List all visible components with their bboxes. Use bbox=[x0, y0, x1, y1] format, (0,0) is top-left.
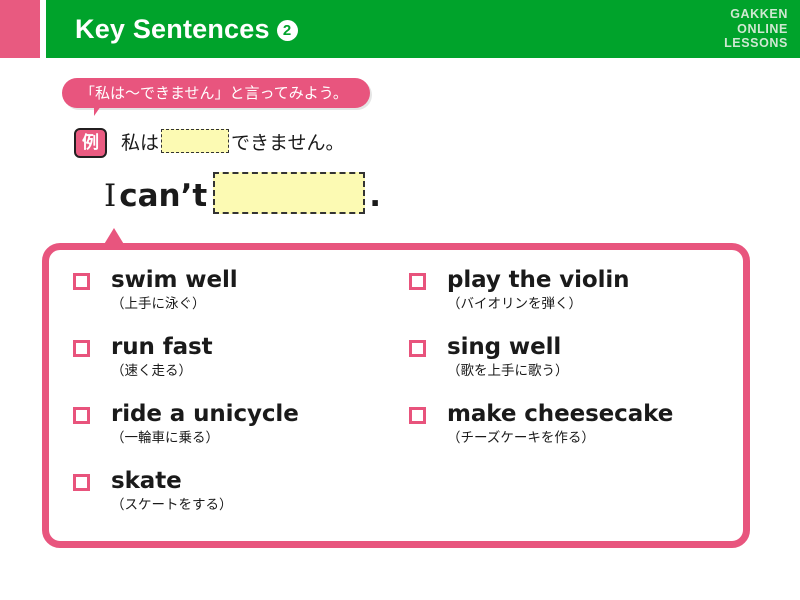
checkbox-icon[interactable] bbox=[409, 340, 426, 357]
list-item[interactable]: run fast （速く走る） bbox=[73, 333, 403, 381]
list-item-english: sing well bbox=[447, 333, 739, 361]
checkbox-icon[interactable] bbox=[73, 407, 90, 424]
checkbox-icon[interactable] bbox=[73, 340, 90, 357]
example-en-period: . bbox=[369, 178, 381, 214]
list-item[interactable]: swim well （上手に泳ぐ） bbox=[73, 266, 403, 314]
list-item-japanese: （バイオリンを弾く） bbox=[447, 295, 739, 314]
page-header: Key Sentences2 GAKKEN ONLINE LESSONS bbox=[0, 0, 800, 58]
list-item-english: ride a unicycle bbox=[111, 400, 403, 428]
instruction-speech-bubble: 「私は〜できません」と言ってみよう。 bbox=[62, 78, 370, 108]
example-japanese-sentence: 私はできません。 bbox=[121, 129, 344, 158]
checkbox-icon[interactable] bbox=[73, 474, 90, 491]
checkbox-icon[interactable] bbox=[73, 273, 90, 290]
example-en-blank-box[interactable] bbox=[213, 172, 365, 214]
list-item-japanese: （スケートをする） bbox=[111, 496, 403, 515]
header-pink-accent-bar bbox=[0, 0, 40, 58]
list-item-english: swim well bbox=[111, 266, 403, 294]
example-en-subject: I bbox=[104, 178, 116, 214]
list-item-english: make cheesecake bbox=[447, 400, 739, 428]
instruction-speech-bubble-tail bbox=[94, 106, 110, 116]
answer-column-right: play the violin （バイオリンを弾く） sing well （歌を… bbox=[409, 266, 739, 467]
list-item[interactable]: play the violin （バイオリンを弾く） bbox=[409, 266, 739, 314]
logo-line-3: LESSONS bbox=[724, 36, 788, 51]
list-item-japanese: （速く走る） bbox=[111, 362, 403, 381]
example-jp-blank-box[interactable] bbox=[161, 129, 229, 153]
list-item-english: run fast bbox=[111, 333, 403, 361]
logo-line-1: GAKKEN bbox=[724, 7, 788, 22]
example-badge: 例 bbox=[74, 128, 107, 158]
answer-column-left: swim well （上手に泳ぐ） run fast （速く走る） ride a… bbox=[73, 266, 403, 534]
list-item-english: play the violin bbox=[447, 266, 739, 294]
example-jp-suffix: できません。 bbox=[231, 132, 344, 154]
list-item[interactable]: skate （スケートをする） bbox=[73, 467, 403, 515]
example-jp-prefix: 私は bbox=[121, 132, 159, 154]
list-item-japanese: （歌を上手に歌う） bbox=[447, 362, 739, 381]
checkbox-icon[interactable] bbox=[409, 407, 426, 424]
list-item-english: skate bbox=[111, 467, 403, 495]
list-item-japanese: （上手に泳ぐ） bbox=[111, 295, 403, 314]
example-en-verb: can’t bbox=[119, 178, 207, 214]
logo-line-2: ONLINE bbox=[724, 22, 788, 37]
list-item-japanese: （一輪車に乗る） bbox=[111, 429, 403, 448]
list-item[interactable]: make cheesecake （チーズケーキを作る） bbox=[409, 400, 739, 448]
checkbox-icon[interactable] bbox=[409, 273, 426, 290]
list-item-japanese: （チーズケーキを作る） bbox=[447, 429, 739, 448]
answer-choices-panel: swim well （上手に泳ぐ） run fast （速く走る） ride a… bbox=[42, 243, 750, 548]
list-item[interactable]: ride a unicycle （一輪車に乗る） bbox=[73, 400, 403, 448]
page-title-number-badge: 2 bbox=[277, 20, 298, 41]
example-english-sentence: Ican’t. bbox=[104, 172, 381, 215]
list-item[interactable]: sing well （歌を上手に歌う） bbox=[409, 333, 739, 381]
page-title-text: Key Sentences bbox=[75, 14, 270, 44]
page-title: Key Sentences2 bbox=[75, 11, 298, 47]
gakken-online-lessons-logo: GAKKEN ONLINE LESSONS bbox=[724, 7, 788, 51]
